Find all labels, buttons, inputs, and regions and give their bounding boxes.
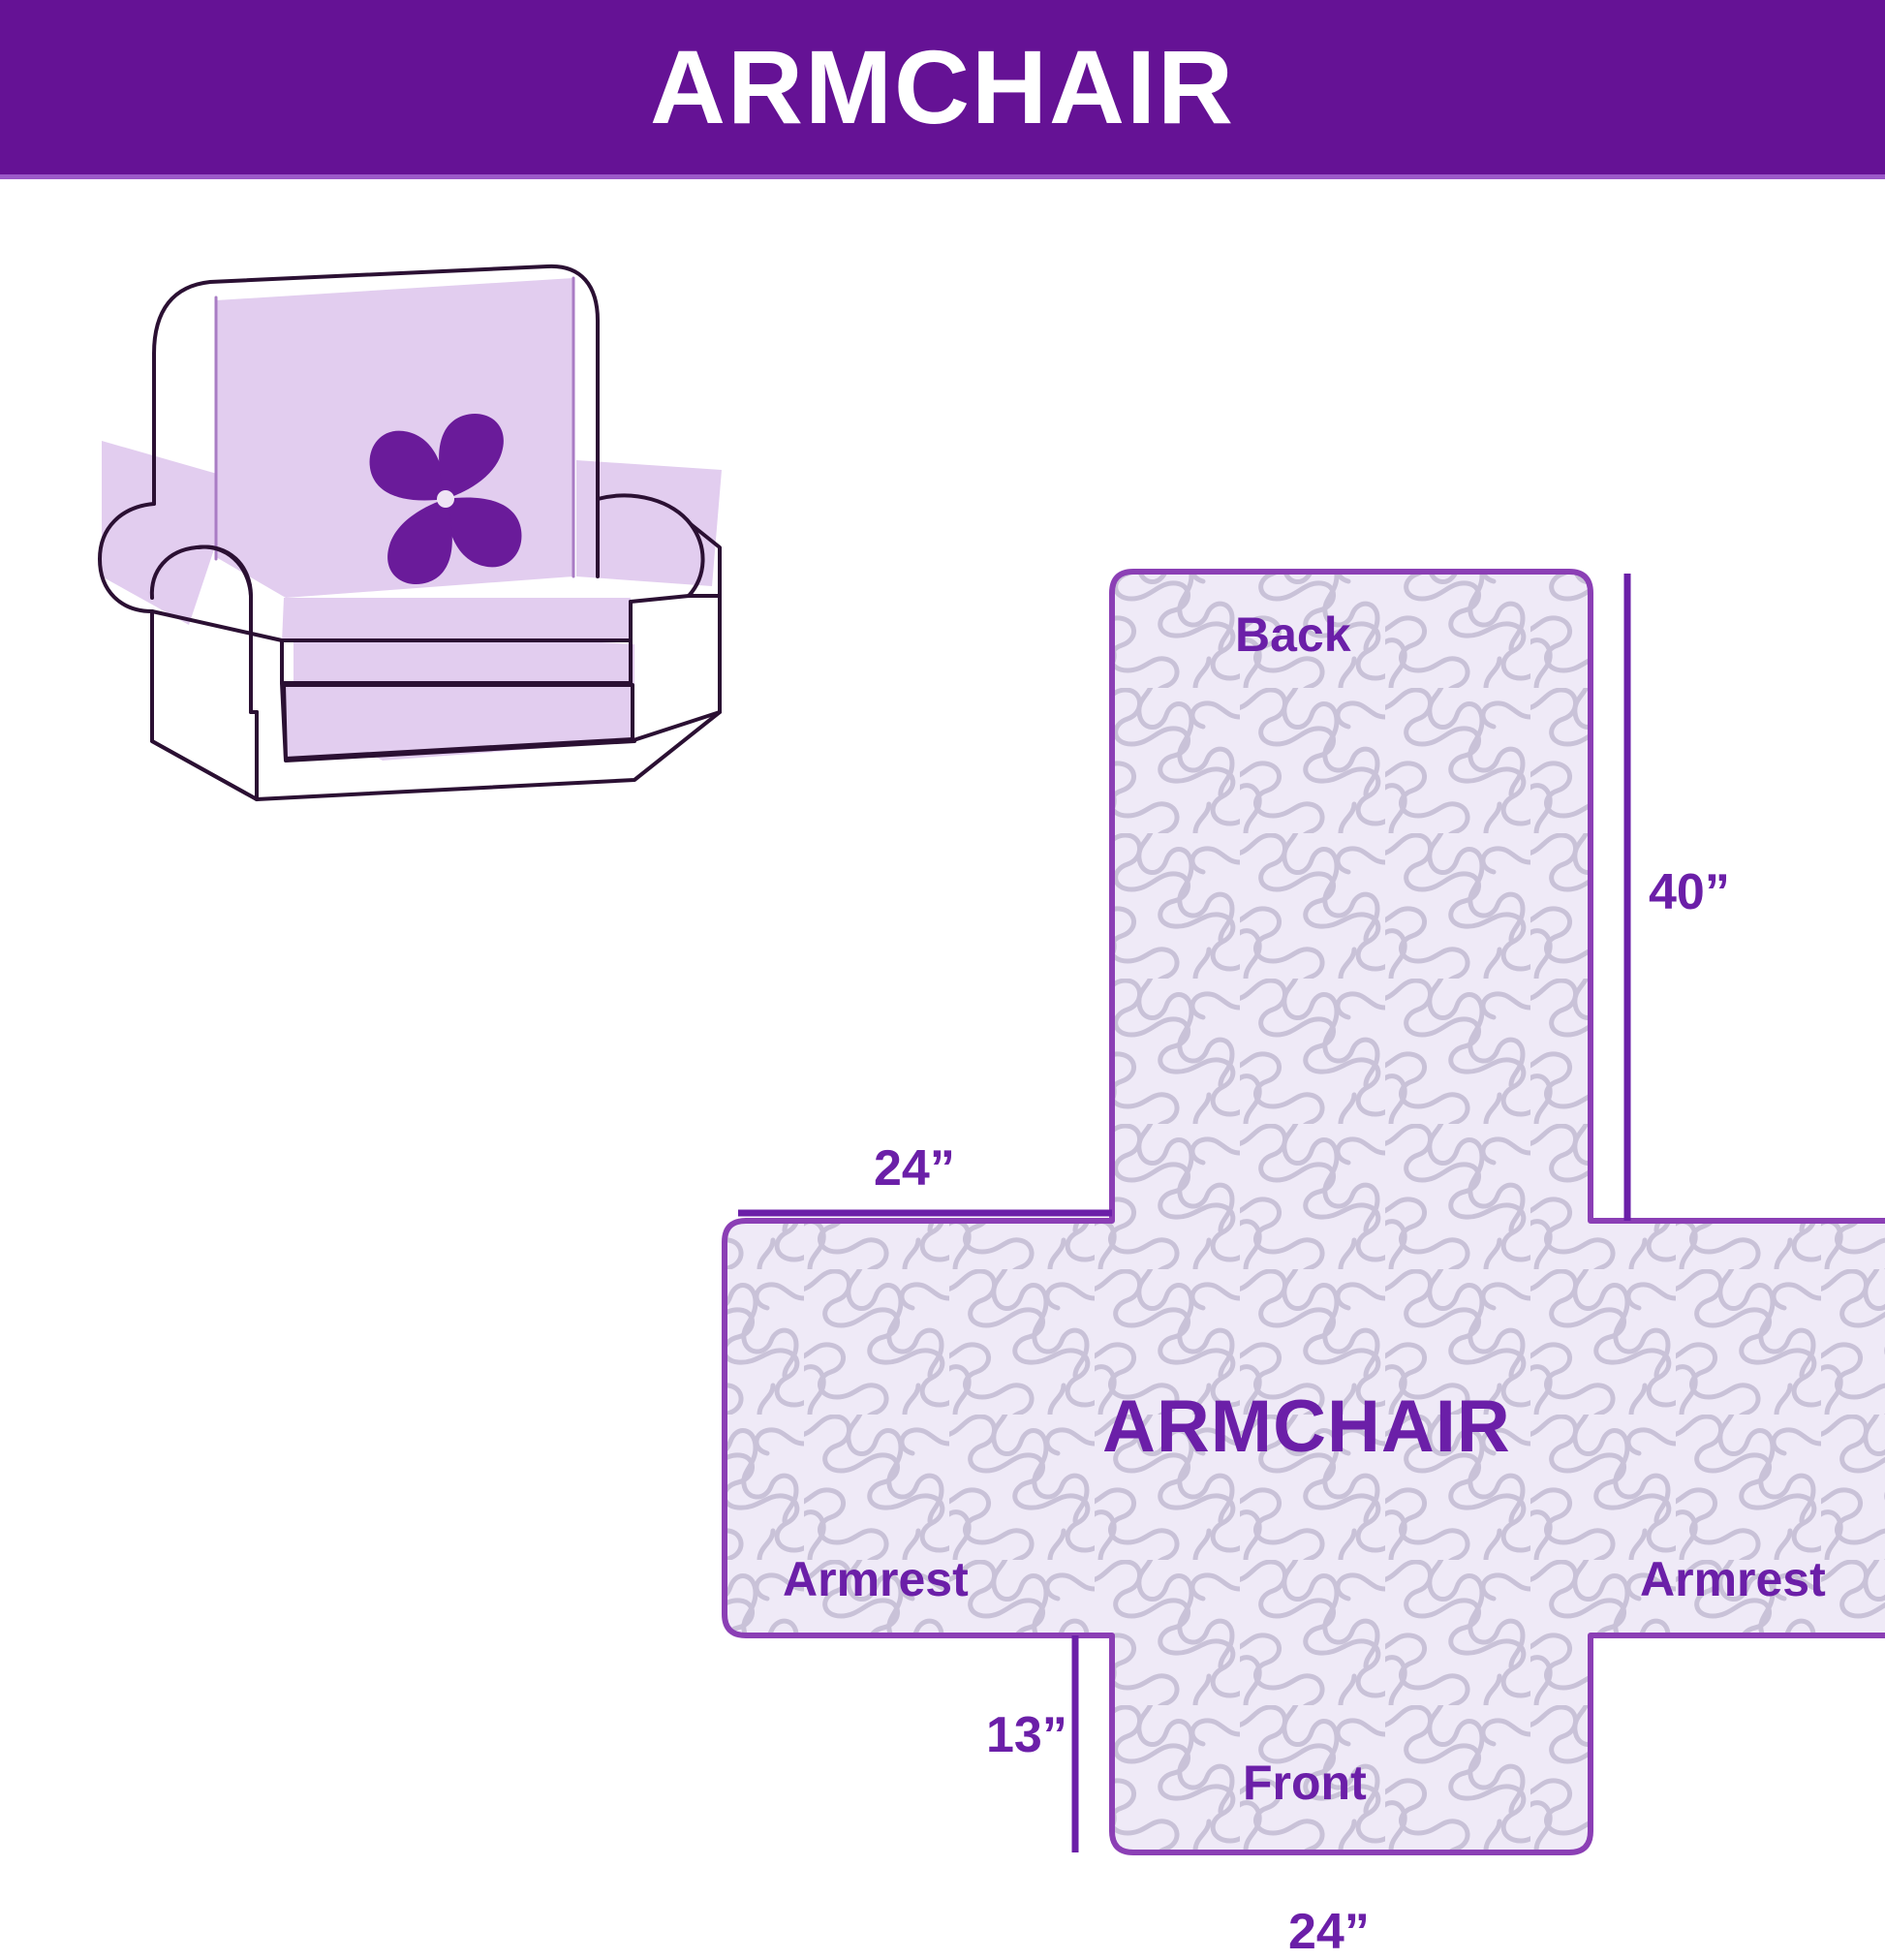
header-banner: ARMCHAIR: [0, 0, 1885, 174]
panel-label-armrest-left: Armrest: [783, 1555, 969, 1603]
dimension-label-front-width: 24”: [1288, 1907, 1370, 1957]
center-label-armchair: ARMCHAIR: [1102, 1390, 1511, 1464]
slipcover-cross-diagram: Back ARMCHAIR Armrest Armrest Front 40” …: [659, 543, 1885, 1885]
dimension-label-arm-width-top: 24”: [874, 1143, 955, 1194]
panel-label-front: Front: [1243, 1758, 1367, 1807]
panel-label-back: Back: [1235, 610, 1351, 659]
panel-label-armrest-right: Armrest: [1640, 1555, 1826, 1603]
dimension-label-front-height: 13”: [986, 1710, 1067, 1760]
dimension-label-back-height: 40”: [1649, 867, 1730, 918]
page-title: ARMCHAIR: [650, 35, 1235, 140]
header-underline-divider: [0, 174, 1885, 179]
